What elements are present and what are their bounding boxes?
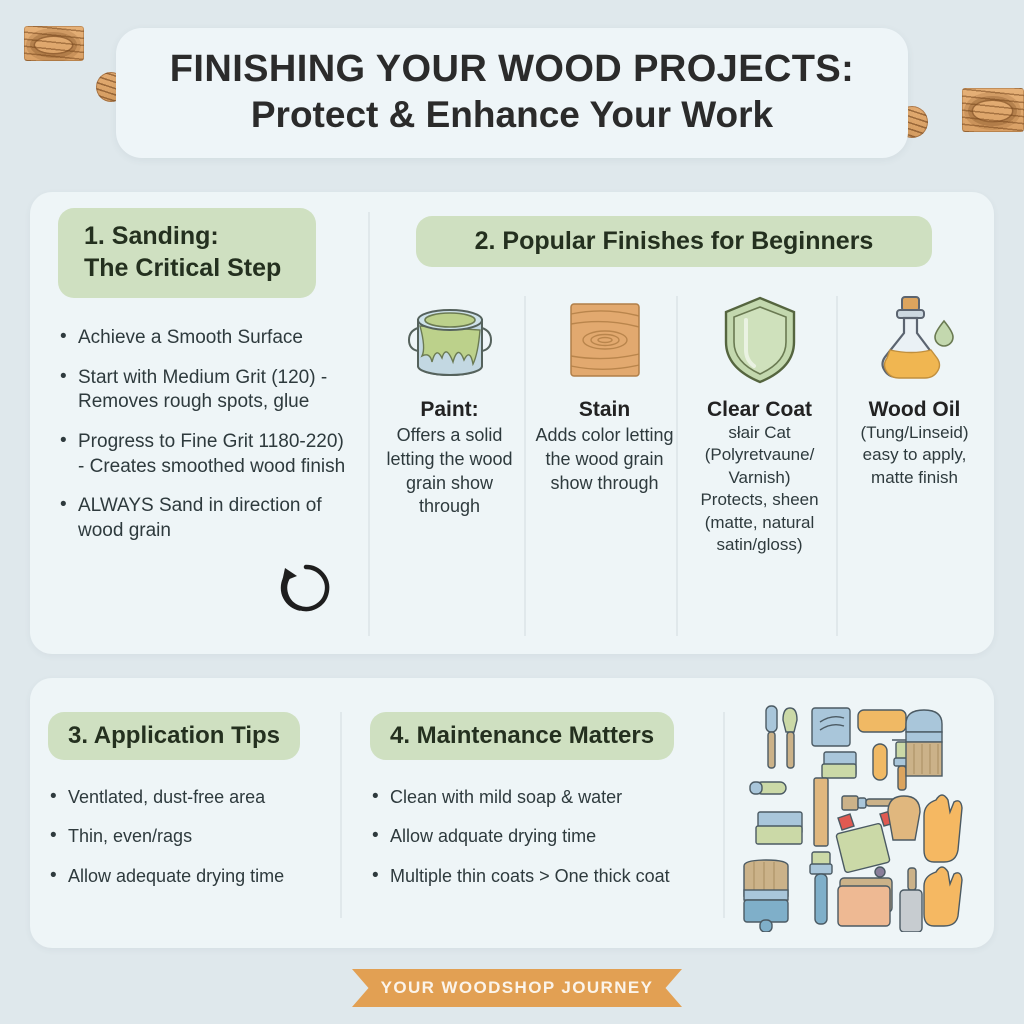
paint-can-icon [380, 288, 519, 392]
footer-ribbon-text: YOUR WOODSHOP JOURNEY [381, 978, 654, 998]
wood-plank-top-right [962, 88, 1024, 132]
wood-plank-top-left [24, 26, 84, 61]
list-item: Clean with mild soap & water [370, 786, 720, 809]
divider-section3-section4 [340, 712, 342, 918]
divider-clearcoat-oil [836, 296, 838, 636]
list-item: Ventlated, dust-free area [48, 786, 348, 809]
finish-desc: słair Cat (Polyretvaune/ Varnish) [690, 422, 829, 489]
list-item: Thin, even/rags [48, 825, 348, 848]
finish-desc: Adds color letting the wood grain show t… [535, 424, 674, 495]
finish-name: Clear Coat [690, 398, 829, 422]
section1-bullet-list: Achieve a Smooth Surface Start with Medi… [58, 326, 354, 544]
section2-heading: 2. Popular Finishes for Beginners [416, 216, 932, 267]
list-item: Multiple thin coats > One thick coat [370, 865, 720, 888]
finish-column-stain: Stain Adds color letting the wood grain … [527, 288, 682, 557]
list-item: ALWAYS Sand in direction of wood grain [58, 494, 354, 543]
list-item: Allow adquate drying time [370, 825, 720, 848]
section-sanding: 1. Sanding: The Critical Step Achieve a … [58, 208, 358, 559]
section1-heading-line1: 1. Sanding: [84, 222, 219, 250]
finishes-row: Paint: Offers a solid letting the wood g… [372, 288, 992, 557]
list-item: Achieve a Smooth Surface [58, 326, 354, 351]
infographic-canvas: FINISHING YOUR WOOD PROJECTS: Protect & … [0, 0, 1024, 1024]
finish-column-clear-coat: Clear Coat słair Cat (Polyretvaune/ Varn… [682, 288, 837, 557]
finish-subdesc: easy to apply, matte finish [845, 444, 984, 489]
divider-stain-clearcoat [676, 296, 678, 636]
divider-section1-section2 [368, 212, 370, 636]
section3-heading: 3. Application Tips [48, 712, 300, 760]
footer-ribbon: YOUR WOODSHOP JOURNEY [352, 969, 682, 1007]
page-title-line1: FINISHING YOUR WOOD PROJECTS: [170, 49, 854, 89]
finish-name: Paint: [380, 398, 519, 422]
section-application-tips: 3. Application Tips Ventlated, dust-free… [48, 712, 348, 904]
refresh-icon [276, 558, 336, 623]
oil-bottle-icon [845, 288, 984, 392]
finish-desc: (Tung/Linseid) [845, 422, 984, 444]
list-item: Progress to Fine Grit 1180-220) - Create… [58, 430, 354, 479]
divider-section4-tools [723, 712, 725, 918]
finish-name: Wood Oil [845, 398, 984, 422]
list-item: Start with Medium Grit (120) - Removes r… [58, 366, 354, 415]
section-maintenance: 4. Maintenance Matters Clean with mild s… [370, 712, 720, 904]
finish-column-wood-oil: Wood Oil (Tung/Linseid) easy to apply, m… [837, 288, 992, 557]
section4-bullet-list: Clean with mild soap & water Allow adqua… [370, 786, 720, 888]
section1-heading: 1. Sanding: The Critical Step [58, 208, 316, 298]
section3-bullet-list: Ventlated, dust-free area Thin, even/rag… [48, 786, 348, 888]
section1-heading-line2: The Critical Step [84, 254, 281, 282]
section4-heading: 4. Maintenance Matters [370, 712, 674, 760]
wood-grain-swatch-icon [535, 288, 674, 392]
finish-desc: Offers a solid letting the wood grain sh… [380, 424, 519, 519]
divider-paint-stain [524, 296, 526, 636]
shield-icon [690, 288, 829, 392]
page-title-line2: Protect & Enhance Your Work [251, 93, 773, 137]
woodworking-tools-illustration [740, 700, 984, 932]
section-finishes-heading-wrap: 2. Popular Finishes for Beginners [416, 216, 932, 267]
list-item: Allow adequate drying time [48, 865, 348, 888]
title-card: FINISHING YOUR WOOD PROJECTS: Protect & … [116, 28, 908, 158]
finish-subdesc: Protects, sheen (matte, natural satin/gl… [690, 489, 829, 556]
finish-column-paint: Paint: Offers a solid letting the wood g… [372, 288, 527, 557]
finish-name: Stain [535, 398, 674, 422]
